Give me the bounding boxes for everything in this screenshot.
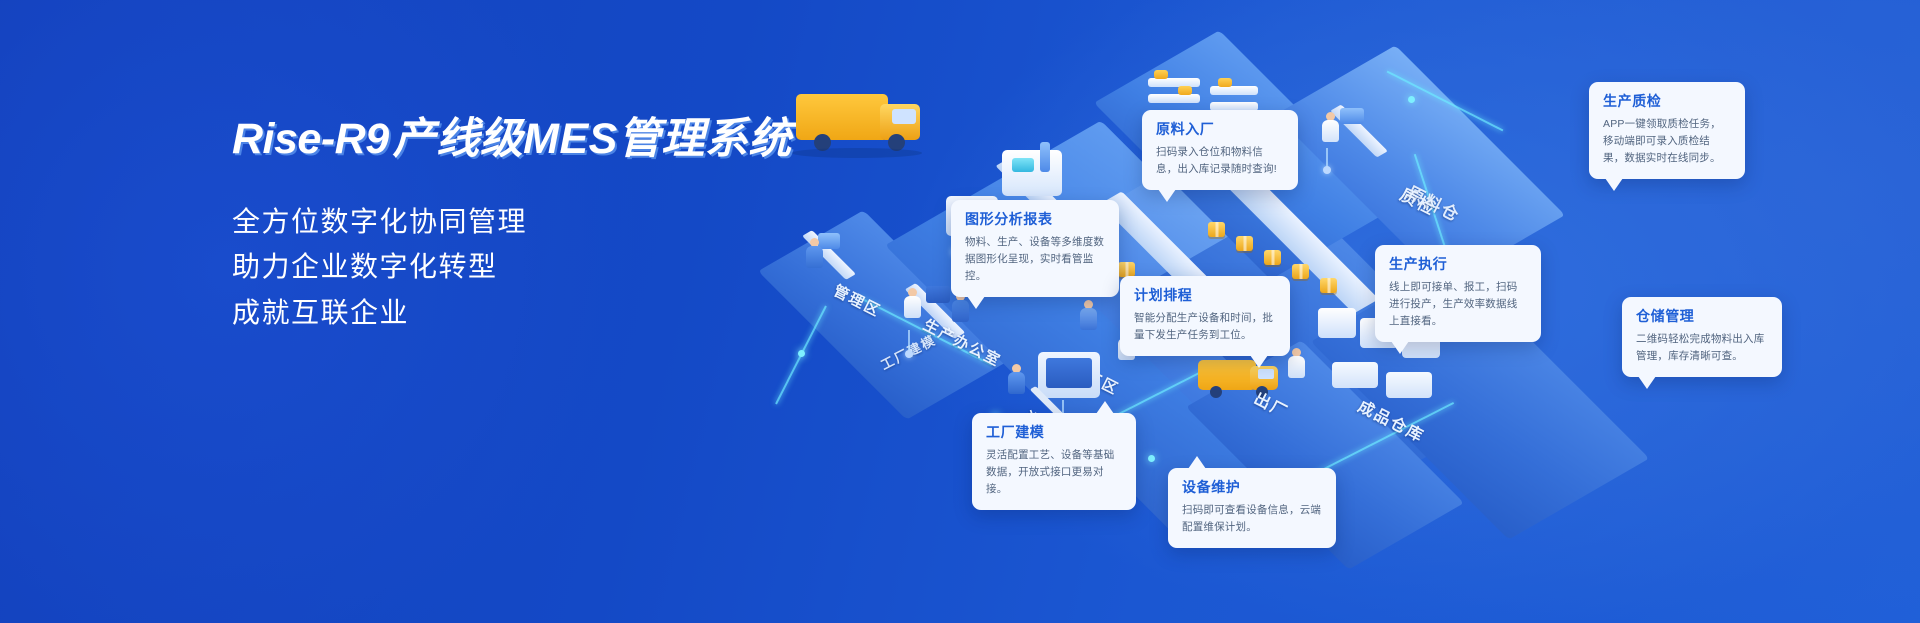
card-description: 灵活配置工艺、设备等基础数据，开放式接口更易对接。 (986, 447, 1122, 498)
leader-dot-factory-modeling (905, 350, 913, 358)
truck-wheel-rear (1210, 386, 1222, 398)
machine-central-panel (1012, 158, 1034, 172)
card-description: APP一键领取质检任务，移动端即可录入质检结果，数据实时在线同步。 (1603, 116, 1731, 167)
card-title: 图形分析报表 (965, 211, 1105, 228)
worker-body (1080, 308, 1097, 330)
rack-box-3 (1218, 78, 1232, 87)
leader-line-factory-modeling (908, 330, 910, 352)
truck-box (1198, 360, 1256, 390)
card-title: 仓储管理 (1636, 308, 1768, 325)
truck-shadow (792, 148, 922, 158)
card-description: 智能分配生产设备和时间，批量下发生产任务到工位。 (1134, 310, 1276, 344)
leader-line-quality (1326, 148, 1328, 168)
card-pointer (1250, 355, 1268, 368)
assembly-crate-4 (1292, 264, 1309, 279)
card-pointer (1605, 178, 1623, 191)
leader-dot-quality (1323, 166, 1331, 174)
grid-node-3 (1148, 455, 1155, 462)
rack-material-4 (1210, 86, 1258, 95)
assembly-crate-2 (1236, 236, 1253, 251)
worker-body (904, 296, 921, 318)
grid-node-1 (798, 350, 805, 357)
truck-window (892, 109, 916, 124)
page-title-cjk: 产线级MES管理系统 (393, 115, 792, 163)
callout-card-equipment-maintenance[interactable]: 设备维护 扫码即可查看设备信息，云端配置维保计划。 (1168, 468, 1336, 548)
card-pointer (967, 296, 985, 309)
qc-station-screen (1340, 108, 1364, 124)
assembly-crate-5 (1320, 278, 1337, 293)
office-monitor-management (818, 233, 840, 249)
callout-card-production-quality-inspection[interactable]: 生产质检 APP一键领取质检任务，移动端即可录入质检结果，数据实时在线同步。 (1589, 82, 1745, 179)
page-title-latin: Rise-R9 (232, 115, 389, 163)
callout-card-warehouse-management[interactable]: 仓储管理 二维码轻松完成物料出入库管理，库存清晰可查。 (1622, 297, 1782, 377)
machine-central-arm (1040, 142, 1050, 172)
card-title: 原料入厂 (1156, 121, 1284, 138)
finished-rack-1 (1318, 308, 1356, 338)
finished-stack-2 (1386, 372, 1432, 398)
worker-body (806, 246, 823, 268)
delivery-truck-inbound (788, 82, 928, 162)
card-pointer (1158, 189, 1176, 202)
card-description: 二维码轻松完成物料出入库管理，库存清晰可查。 (1636, 331, 1768, 365)
truck-box (796, 94, 888, 140)
assembly-crate-1 (1208, 222, 1225, 237)
rack-box-1 (1154, 70, 1168, 79)
callout-card-factory-modeling[interactable]: 工厂建模 灵活配置工艺、设备等基础数据，开放式接口更易对接。 (972, 413, 1136, 510)
card-pointer (1188, 456, 1206, 469)
office-monitor-production (926, 286, 950, 303)
card-description: 扫码即可查看设备信息，云端配置维保计划。 (1182, 502, 1322, 536)
grid-node-4 (1408, 96, 1415, 103)
card-title: 计划排程 (1134, 287, 1276, 304)
callout-card-graph-analysis-report[interactable]: 图形分析报表 物料、生产、设备等多维度数据图形化呈现，实时看管监控。 (951, 200, 1119, 297)
finished-stack-1 (1332, 362, 1378, 388)
callout-card-production-execution[interactable]: 生产执行 线上即可接单、报工，扫码进行投产，生产效率数据线上直接看。 (1375, 245, 1541, 342)
card-title: 生产质检 (1603, 93, 1731, 110)
card-pointer (1096, 401, 1114, 414)
rack-box-2 (1178, 86, 1192, 95)
card-description: 线上即可接单、报工，扫码进行投产，生产效率数据线上直接看。 (1389, 279, 1527, 330)
assembly-crate-3 (1264, 250, 1281, 265)
callout-card-raw-material-inbound[interactable]: 原料入厂 扫码录入仓位和物料信息，出入库记录随时查询! (1142, 110, 1298, 190)
machine-central-body (1002, 150, 1062, 196)
card-description: 物料、生产、设备等多维度数据图形化呈现，实时看管监控。 (965, 234, 1105, 285)
card-title: 工厂建模 (986, 424, 1122, 441)
equipment-monitor-screen (1046, 358, 1092, 388)
card-title: 设备维护 (1182, 479, 1322, 496)
card-description: 扫码录入仓位和物料信息，出入库记录随时查询! (1156, 144, 1284, 178)
card-pointer (1638, 376, 1656, 389)
rack-material-2 (1148, 94, 1200, 103)
conveyor-crate-1 (1118, 262, 1135, 277)
truck-window (1258, 369, 1274, 379)
worker-body (1322, 120, 1339, 142)
worker-body (1008, 372, 1025, 394)
card-title: 生产执行 (1389, 256, 1527, 273)
callout-card-plan-scheduling[interactable]: 计划排程 智能分配生产设备和时间，批量下发生产任务到工位。 (1120, 276, 1290, 356)
card-pointer (1391, 341, 1409, 354)
rack-material-1 (1148, 78, 1200, 87)
